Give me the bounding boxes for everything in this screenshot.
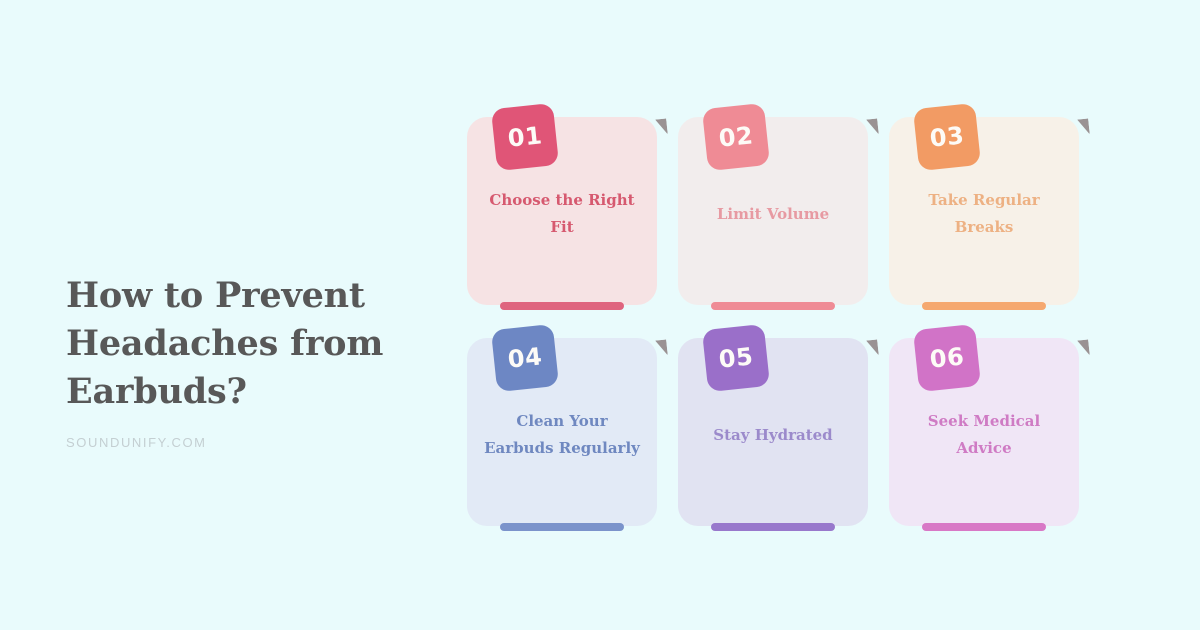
tip-number-label: 03 (929, 123, 966, 150)
badge-fold-icon (866, 118, 879, 135)
badge-fold-icon (1077, 118, 1090, 135)
tip-number-label: 02 (718, 123, 755, 150)
tip-card-04[interactable]: 04 Clean Your Earbuds Regularly (467, 338, 657, 526)
tip-accent-bar-01 (500, 302, 624, 310)
tip-number-label: 01 (507, 123, 544, 150)
tip-title-01: Choose the Right Fit (483, 187, 641, 241)
tip-title-05: Stay Hydrated (713, 422, 832, 449)
badge-fold-icon (1077, 339, 1090, 356)
tip-accent-bar-03 (922, 302, 1046, 310)
tip-card-06[interactable]: 06 Seek Medical Advice (889, 338, 1079, 526)
tip-title-04: Clean Your Earbuds Regularly (483, 408, 641, 462)
tip-accent-bar-05 (711, 523, 835, 531)
tip-card-03[interactable]: 03 Take Regular Breaks (889, 117, 1079, 305)
badge-fold-icon (866, 339, 879, 356)
tip-number-label: 05 (718, 344, 755, 371)
headline-block: How to Prevent Headaches from Earbuds? S… (66, 272, 416, 450)
site-label: SOUNDUNIFY.COM (66, 435, 416, 450)
tip-accent-bar-06 (922, 523, 1046, 531)
badge-fold-icon (655, 118, 668, 135)
tip-accent-bar-02 (711, 302, 835, 310)
badge-fold-icon (655, 339, 668, 356)
tip-title-03: Take Regular Breaks (905, 187, 1063, 241)
tip-card-01[interactable]: 01 Choose the Right Fit (467, 117, 657, 305)
infographic-canvas: How to Prevent Headaches from Earbuds? S… (0, 0, 1200, 630)
tip-number-label: 06 (929, 344, 966, 371)
tip-card-02[interactable]: 02 Limit Volume (678, 117, 868, 305)
tip-number-badge-05: 05 (702, 324, 770, 392)
tip-accent-bar-04 (500, 523, 624, 531)
tip-number-badge-03: 03 (913, 103, 981, 171)
tip-title-02: Limit Volume (717, 201, 829, 228)
page-title: How to Prevent Headaches from Earbuds? (66, 272, 416, 416)
tip-number-badge-04: 04 (491, 324, 559, 392)
tips-card-grid: 01 Choose the Right Fit 02 Limit Volume … (467, 117, 1082, 526)
tip-number-badge-02: 02 (702, 103, 770, 171)
tip-number-badge-01: 01 (491, 103, 559, 171)
tip-number-label: 04 (507, 344, 544, 371)
tip-number-badge-06: 06 (913, 324, 981, 392)
tip-card-05[interactable]: 05 Stay Hydrated (678, 338, 868, 526)
tip-title-06: Seek Medical Advice (905, 408, 1063, 462)
